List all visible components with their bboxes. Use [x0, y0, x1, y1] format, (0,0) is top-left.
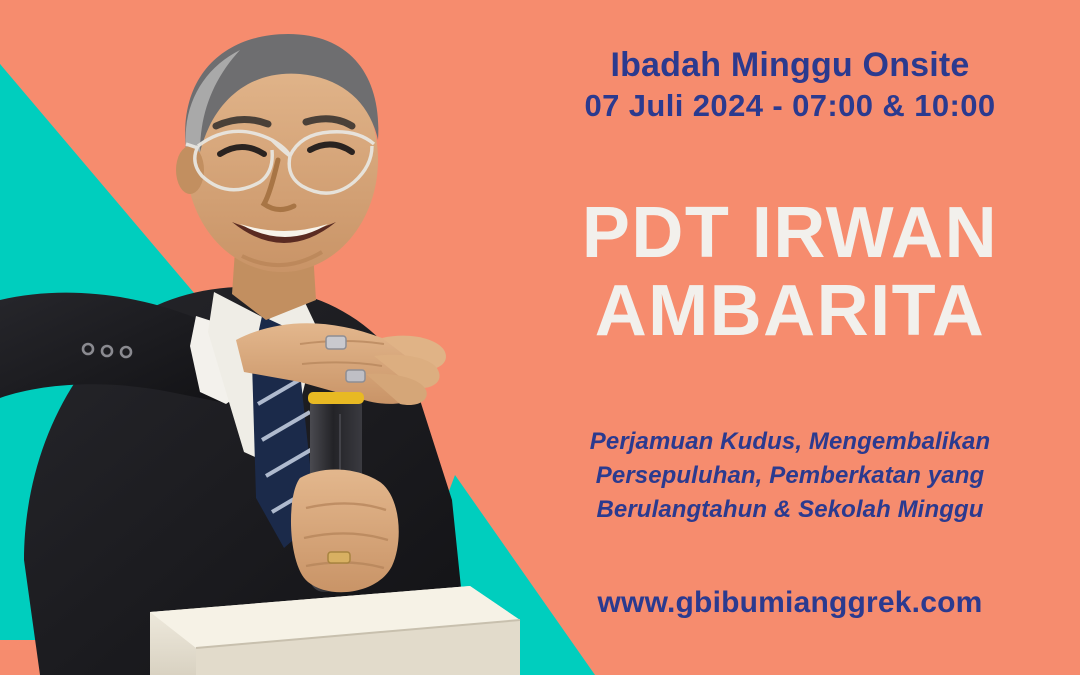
service-description-line2: Persepuluhan, Pemberkatan yang [500, 459, 1080, 493]
speaker-name-line1: PDT IRWAN [582, 193, 998, 273]
ear-left [176, 146, 204, 194]
event-datetime: 07 Juli 2024 - 07:00 & 10:00 [500, 90, 1080, 123]
mic-band-yellow [308, 392, 364, 404]
event-header: Ibadah Minggu Onsite 07 Juli 2024 - 07:0… [500, 48, 1080, 122]
service-description-line1: Perjamuan Kudus, Mengembalikan [500, 425, 1080, 459]
service-description: Perjamuan Kudus, Mengembalikan Persepulu… [500, 425, 1080, 527]
website-url[interactable]: www.gbibumianggrek.com [500, 586, 1080, 620]
gripping-hand [291, 469, 399, 592]
speaker-name-line2: AMBARITA [500, 273, 1080, 351]
text-panel: Ibadah Minggu Onsite 07 Juli 2024 - 07:0… [500, 0, 1080, 675]
wedding-ring [328, 552, 350, 563]
speaker-name: PDT IRWAN AMBARITA [500, 195, 1080, 351]
event-title: Ibadah Minggu Onsite [610, 46, 969, 84]
poster-canvas: Ibadah Minggu Onsite 07 Juli 2024 - 07:0… [0, 0, 1080, 675]
service-description-line3: Berulangtahun & Sekolah Minggu [500, 493, 1080, 527]
speaker-photo [0, 0, 540, 675]
